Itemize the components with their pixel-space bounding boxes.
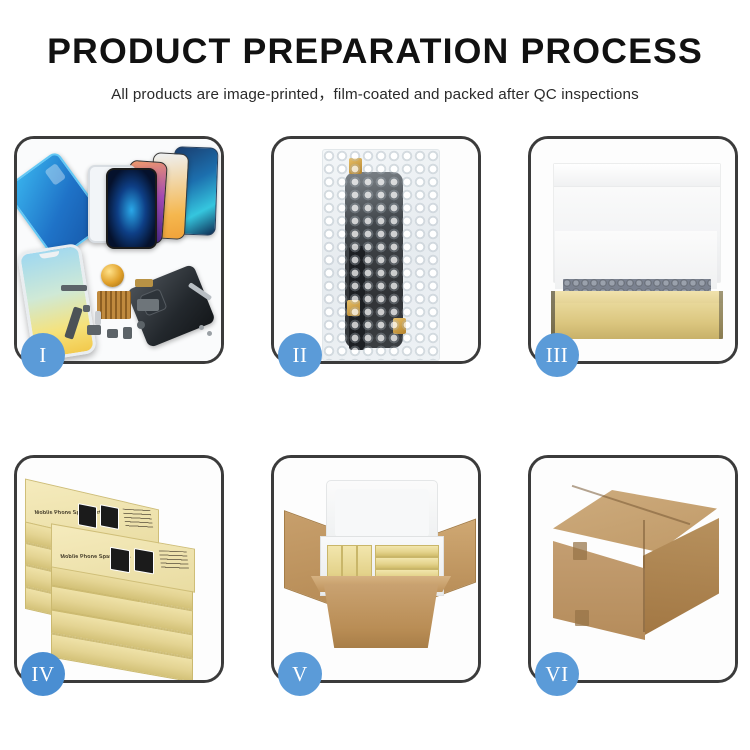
step-badge-1: I: [21, 333, 65, 377]
spare-part: [107, 329, 118, 338]
page-header: PRODUCT PREPARATION PROCESS All products…: [0, 0, 750, 104]
spare-part: [61, 285, 87, 291]
panel-3-image: [531, 139, 735, 361]
process-step-panel-3[interactable]: III: [528, 136, 738, 364]
carton-front-face: [553, 530, 645, 640]
box-artwork-swatch: [134, 548, 154, 575]
retail-box: [375, 545, 439, 557]
box-artwork-swatch: [110, 547, 130, 574]
black-phone: [106, 168, 157, 249]
chip-array: [97, 291, 131, 319]
carton-tape-lower: [575, 610, 589, 626]
carton-corner-edge: [643, 520, 645, 632]
box-artwork-swatch: [78, 503, 97, 529]
panel-2-image: [274, 139, 478, 361]
process-step-panel-5[interactable]: V: [271, 455, 481, 683]
spare-part: [83, 305, 90, 312]
screw: [199, 325, 204, 330]
process-step-panel-2[interactable]: II: [271, 136, 481, 364]
gold-contact: [347, 300, 360, 316]
box-edge-right: [719, 291, 723, 339]
retail-box: [375, 557, 439, 569]
process-step-panel-1[interactable]: I: [14, 136, 224, 364]
flex-cable: [349, 246, 365, 350]
carton-tape-upper: [573, 542, 587, 560]
spare-part: [135, 279, 153, 287]
gold-contact: [393, 318, 406, 334]
box-spec-lines: [159, 550, 189, 569]
page-title: PRODUCT PREPARATION PROCESS: [0, 34, 750, 71]
spare-part: [123, 327, 132, 339]
step-badge-3: III: [535, 333, 579, 377]
spare-part: [137, 321, 145, 329]
process-step-panel-6[interactable]: VI: [528, 455, 738, 683]
panel-5-image: [274, 458, 478, 680]
spare-part: [95, 311, 101, 325]
spare-part: [87, 325, 101, 335]
bubble-wrap-bag: [322, 149, 440, 361]
step-badge-4: IV: [21, 652, 65, 696]
panel-1-image: [17, 139, 221, 361]
box-edge-left: [551, 291, 555, 339]
page-subtitle: All products are image-printed，film-coat…: [0, 82, 750, 104]
carton-body: [316, 584, 446, 648]
gold-contact: [349, 158, 362, 174]
foam-lid: [326, 480, 438, 544]
step-badge-5: V: [278, 652, 322, 696]
screw: [207, 331, 212, 336]
process-step-grid: I II: [14, 136, 736, 683]
kraft-box-front: [551, 303, 723, 339]
process-step-panel-4[interactable]: Mobile Phone Spare Parts Mobile Phone Sp…: [14, 455, 224, 683]
step-badge-6: VI: [535, 652, 579, 696]
spare-part: [137, 299, 159, 311]
step-badge-2: II: [278, 333, 322, 377]
panel-4-image: Mobile Phone Spare Parts Mobile Phone Sp…: [17, 458, 221, 680]
box-artwork-swatch: [100, 504, 119, 530]
box-spec-lines: [123, 509, 154, 529]
panel-6-image: [531, 458, 735, 680]
gold-component: [101, 264, 124, 287]
